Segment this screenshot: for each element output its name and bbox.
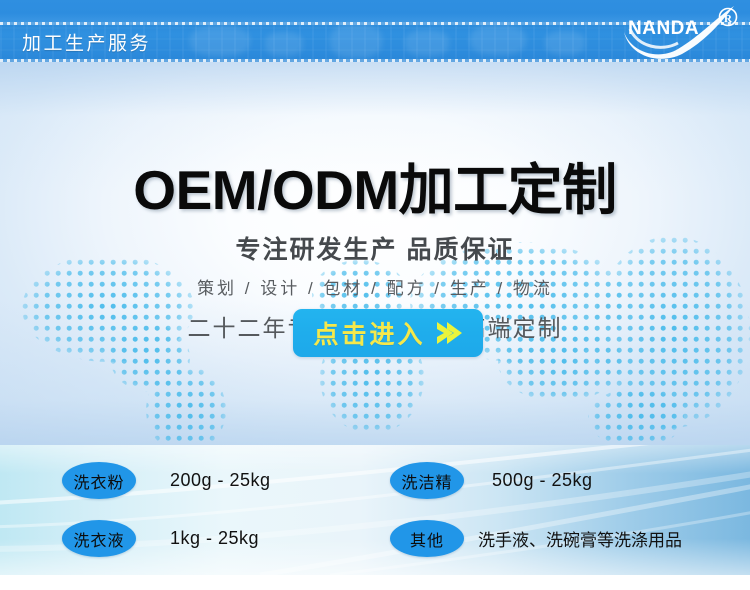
banner-decor-blob <box>265 32 303 56</box>
promo-banner-page: 加工生产服务 NANDA R <box>0 0 750 590</box>
product-name-badge: 洗洁精 <box>390 462 464 499</box>
logo-svg: NANDA R <box>616 2 744 64</box>
product-spec-text: 1kg - 25kg <box>170 528 259 549</box>
product-spec-panel: 洗衣粉 200g - 25kg 洗洁精 500g - 25kg 洗衣液 1kg … <box>0 445 750 575</box>
hero-subtitle-primary: 专注研发生产 品质保证 <box>0 230 750 266</box>
trademark-glyph: R <box>724 13 733 25</box>
banner-decor-blob <box>405 30 449 56</box>
bottom-whitespace <box>0 575 750 590</box>
product-spec-text: 200g - 25kg <box>170 470 271 491</box>
product-row: 其他 洗手液、洗碗膏等洗涤用品 <box>390 520 682 557</box>
product-row: 洗衣液 1kg - 25kg <box>62 520 259 557</box>
product-spec-text: 洗手液、洗碗膏等洗涤用品 <box>478 526 682 551</box>
product-name-badge: 洗衣粉 <box>62 462 136 499</box>
product-row: 洗衣粉 200g - 25kg <box>62 462 271 499</box>
banner-title: 加工生产服务 <box>22 29 151 56</box>
product-name-badge: 其他 <box>390 520 464 557</box>
banner-decor-blob <box>545 31 585 55</box>
product-spec-text: 500g - 25kg <box>492 470 593 491</box>
banner-decor-blob <box>330 24 382 58</box>
hero-section: OEM/ODM加工定制 专注研发生产 品质保证 策划 / 设计 / 包材 / 配… <box>0 62 750 445</box>
enter-button-label: 点击进入 <box>313 315 425 351</box>
enter-button[interactable]: 点击进入 <box>293 309 483 357</box>
banner-decor-blob <box>190 26 250 56</box>
product-row: 洗洁精 500g - 25kg <box>390 462 593 499</box>
nanda-logo: NANDA R <box>616 2 744 64</box>
logo-wordmark: NANDA <box>628 18 699 39</box>
page-title: OEM/ODM加工定制 <box>0 145 750 225</box>
chevron-right-icon <box>433 319 463 347</box>
product-name-badge: 洗衣液 <box>62 520 136 557</box>
hero-service-chain: 策划 / 设计 / 包材 / 配方 / 生产 / 物流 <box>0 274 750 299</box>
banner-decor-blob <box>470 25 526 55</box>
